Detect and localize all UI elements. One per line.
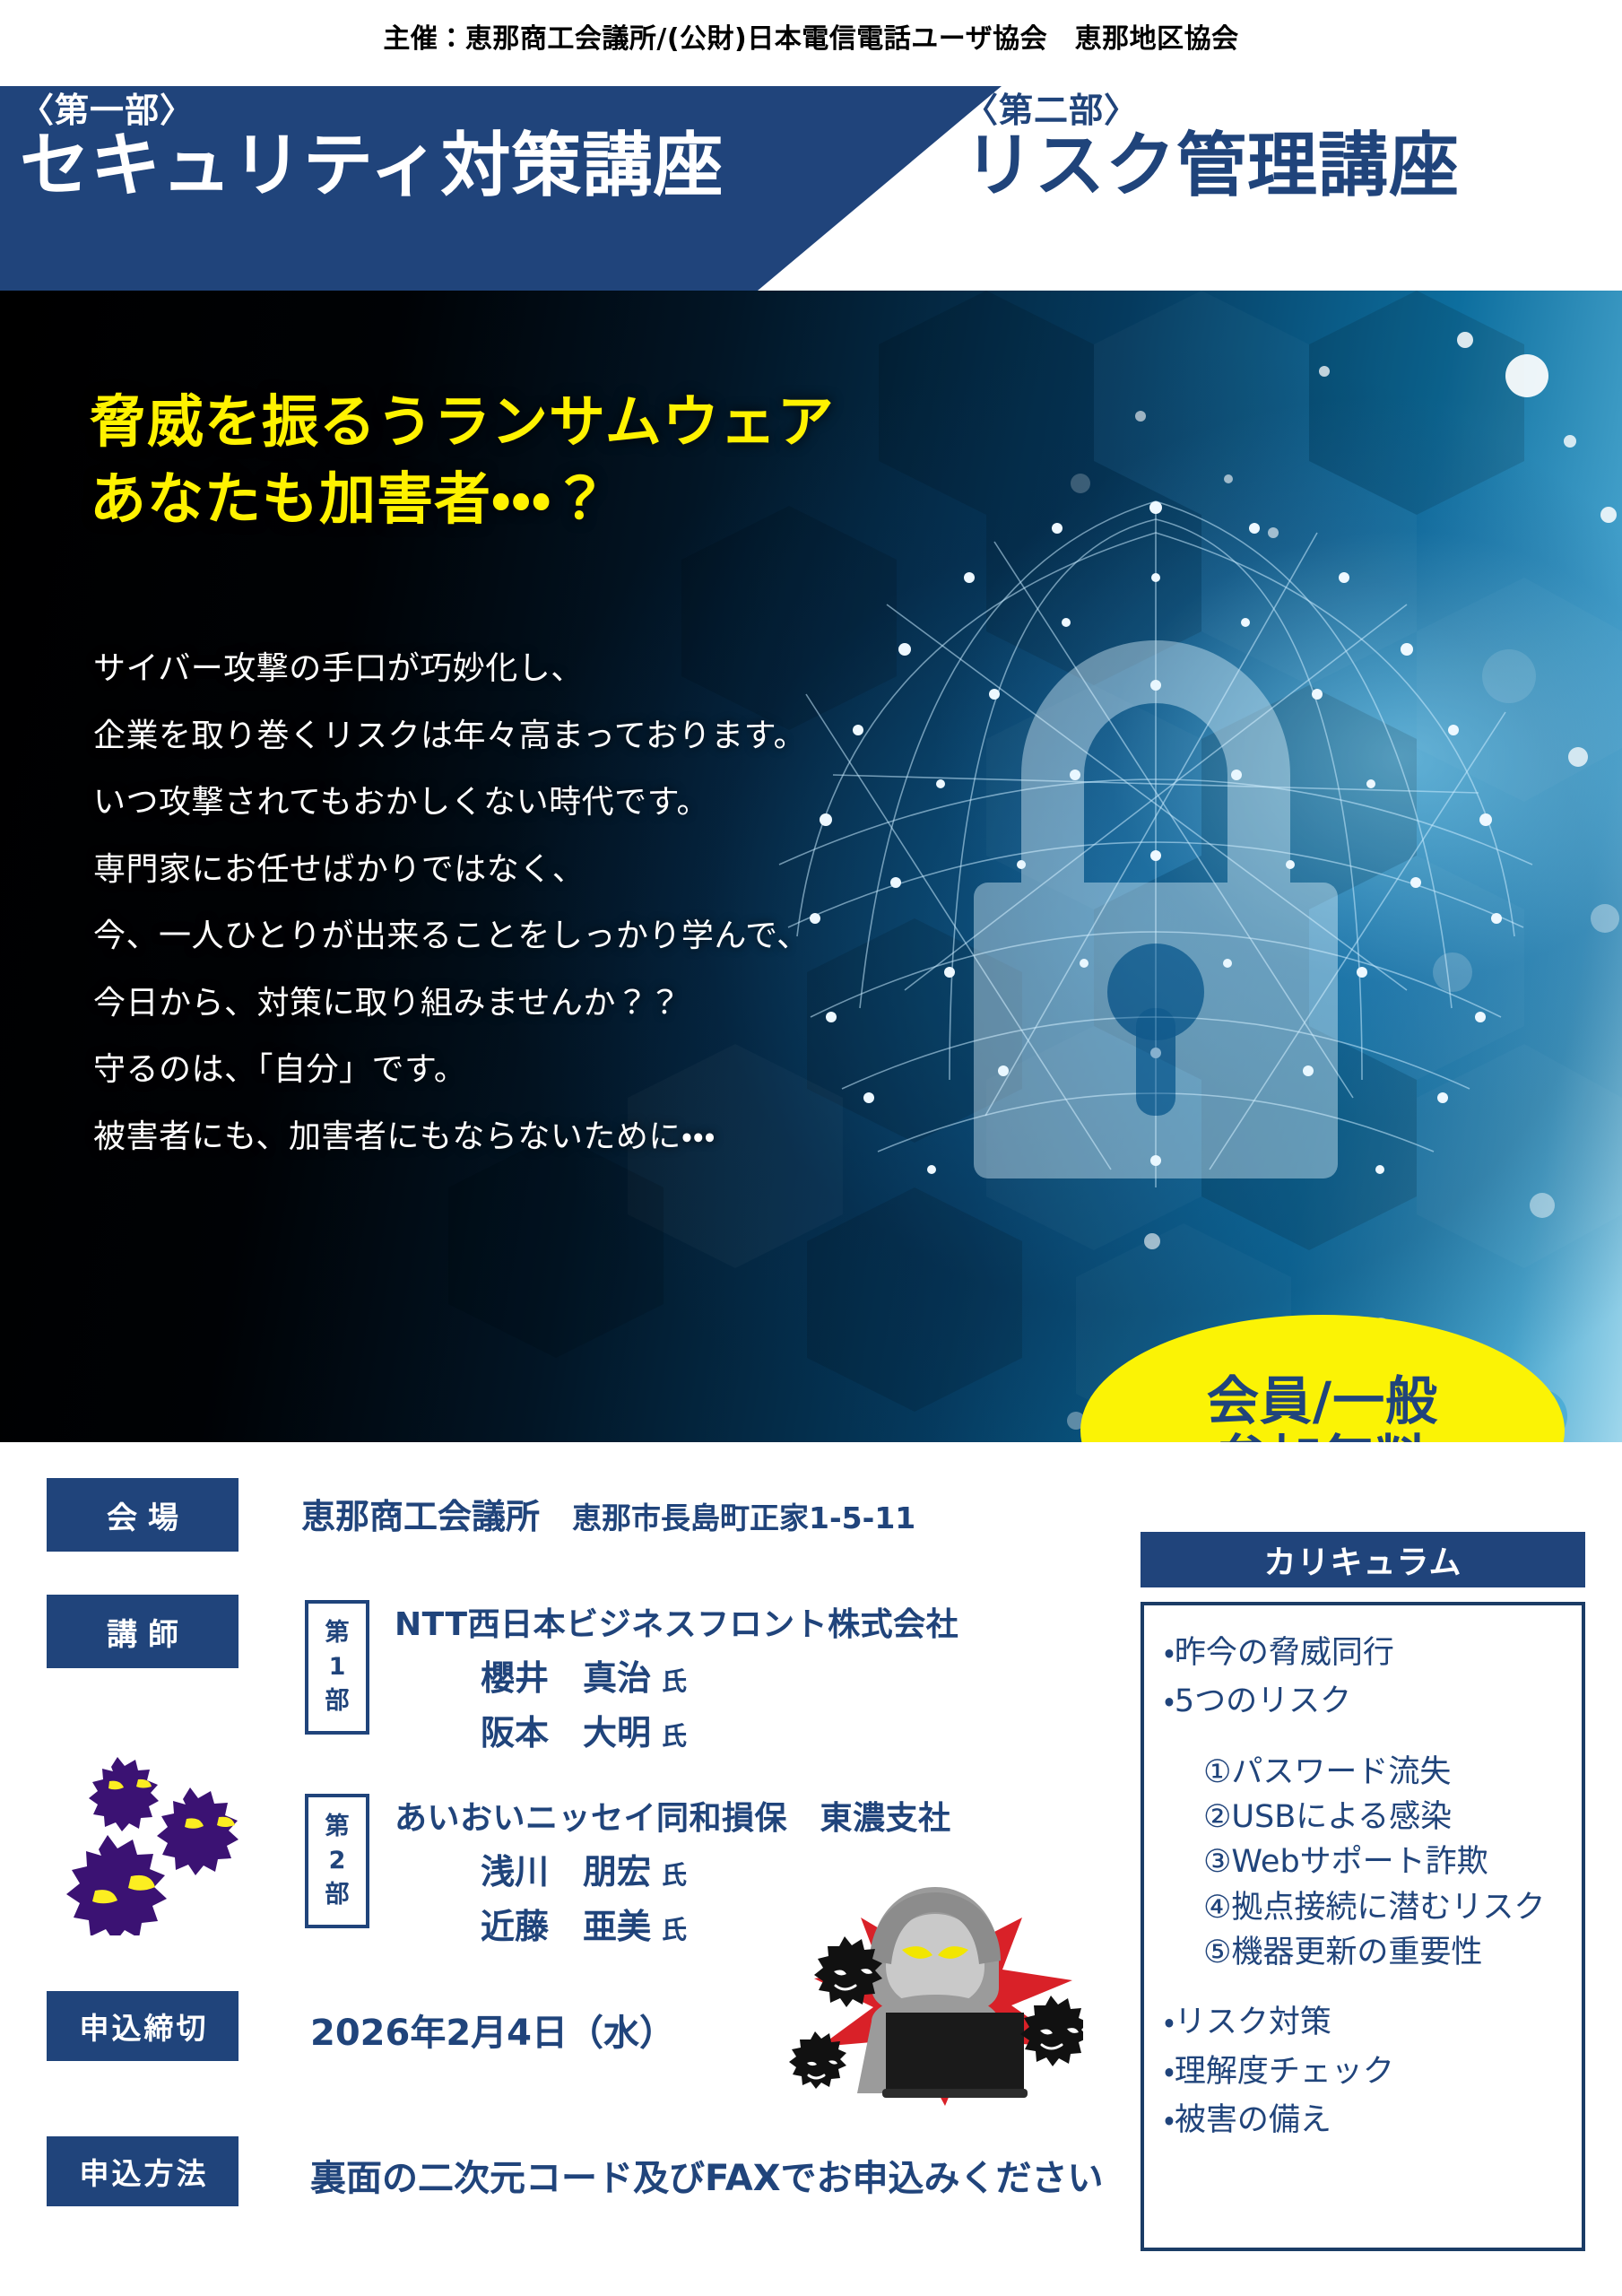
curriculum-subitem: ②USBによる感染 — [1164, 1795, 1566, 1839]
hero-body-line: 守るのは、「自分」です。 — [93, 1037, 810, 1104]
part1-person: 櫻井 真治氏 — [395, 1650, 958, 1700]
curriculum-subitem: ③Webサポート詐欺 — [1164, 1839, 1566, 1884]
hero-headline-line2: あなたも加害者・・・？ — [90, 461, 835, 538]
part1-person-name: 櫻井 真治 — [481, 1658, 651, 1698]
banner-part2: 〈第二部〉 リスク管理講座 — [964, 91, 1460, 201]
curriculum-box: ・昨今の脅威同行 ・5つのリスク ①パスワード流失 ②USBによる感染 ③Web… — [1141, 1602, 1585, 2251]
venue-label-chip: 会場 — [47, 1478, 239, 1552]
banner-part1: 〈第一部〉 セキュリティ対策講座 — [20, 91, 724, 201]
curriculum-item: ・昨今の脅威同行 — [1164, 1629, 1566, 1677]
method-label-chip: 申込方法 — [47, 2136, 239, 2206]
method-value: 裏面の二次元コード及びFAXでお申込みください — [310, 2149, 1104, 2201]
part2-badge-line: 2 — [329, 1844, 346, 1878]
part2-badge: 第 2 部 — [305, 1794, 369, 1928]
organizer-line: 主催：恵那商工会議所/(公財)日本電信電話ユーザ協会 恵那地区協会 — [0, 16, 1622, 56]
deadline-label-chip: 申込締切 — [47, 1991, 239, 2061]
curriculum-item: ・5つのリスク — [1164, 1677, 1566, 1726]
header-banner: 〈第一部〉 セキュリティ対策講座 〈第二部〉 リスク管理講座 — [0, 86, 1622, 291]
part2-person-suffix: 氏 — [662, 1860, 687, 1890]
part1-badge-line: 1 — [329, 1650, 346, 1684]
part1-organization: NTT西日本ビジネスフロント株式会社 — [395, 1598, 958, 1645]
part2-badge-line: 部 — [325, 1878, 350, 1912]
part2-person-name: 近藤 亜美 — [481, 1907, 651, 1946]
part1-badge: 第 1 部 — [305, 1600, 369, 1735]
hero-body-line: 今、一人ひとりが出来ることをしっかり学んで、 — [93, 903, 810, 970]
free-badge-line2: 参加無料 — [1217, 1431, 1428, 1442]
curriculum-title: カリキュラム — [1141, 1532, 1585, 1587]
part2-person-suffix: 氏 — [662, 1915, 687, 1944]
hero-body-line: 専門家にお任せばかりではなく、 — [93, 837, 810, 904]
part1-person: 阪本 大明氏 — [395, 1705, 958, 1754]
hero-body-line: 企業を取り巻くリスクは年々高まっております。 — [93, 703, 810, 770]
curriculum-item: ・理解度チェック — [1164, 2048, 1566, 2096]
hacker-illustration — [787, 1871, 1083, 2140]
part1-badge-line: 第 — [325, 1616, 350, 1650]
hero-headline-line1: 脅威を振るうランサムウェア — [90, 384, 835, 461]
hero-body-text: サイバー攻撃の手口が巧妙化し、 企業を取り巻くリスクは年々高まっております。 い… — [93, 636, 810, 1170]
part1-badge-line: 部 — [325, 1684, 350, 1718]
part2-title: リスク管理講座 — [964, 131, 1460, 201]
virus-characters-icon — [56, 1756, 253, 1935]
part1-person-suffix: 氏 — [662, 1721, 687, 1751]
part1-lecturer-block: NTT西日本ビジネスフロント株式会社 櫻井 真治氏 阪本 大明氏 — [395, 1598, 958, 1754]
poster-root: 主催：恵那商工会議所/(公財)日本電信電話ユーザ協会 恵那地区協会 〈第一部〉 … — [0, 0, 1622, 2296]
lecturer-label-chip: 講師 — [47, 1595, 239, 1668]
venue-name: 恵那商工会議所 — [301, 1497, 540, 1536]
hero-body-line: 被害者にも、加害者にもならないために・・・ — [93, 1104, 810, 1171]
part1-person-name: 阪本 大明 — [481, 1713, 651, 1752]
part2-organization: あいおいニッセイ同和損保 東濃支社 — [395, 1792, 951, 1839]
part2-person-name: 浅川 朋宏 — [481, 1852, 651, 1892]
hero-body-line: サイバー攻撃の手口が巧妙化し、 — [93, 636, 810, 703]
part1-title: セキュリティ対策講座 — [20, 131, 724, 201]
hero-body-line: 今日から、対策に取り組みませんか？？ — [93, 970, 810, 1038]
part2-badge-line: 第 — [325, 1810, 350, 1844]
curriculum-item: ・リスク対策 — [1164, 1998, 1566, 2047]
deadline-value: 2026年2月4日（水） — [310, 2004, 675, 2056]
venue-address: 恵那市長島町正家1-5-11 — [572, 1500, 915, 1535]
hero-section: 脅威を振るうランサムウェア あなたも加害者・・・？ サイバー攻撃の手口が巧妙化し… — [0, 291, 1622, 1442]
spacer — [1164, 1726, 1566, 1750]
curriculum-subitem: ⑤機器更新の重要性 — [1164, 1930, 1566, 1975]
free-badge-line1: 会員/一般 — [1207, 1372, 1438, 1431]
spacer — [1164, 1975, 1566, 1998]
venue-text: 恵那商工会議所恵那市長島町正家1-5-11 — [301, 1489, 915, 1538]
part1-person-suffix: 氏 — [662, 1666, 687, 1696]
hero-body-line: いつ攻撃されてもおかしくない時代です。 — [93, 770, 810, 837]
curriculum-subitem: ①パスワード流失 — [1164, 1750, 1566, 1795]
curriculum-subitem: ④拠点接続に潜むリスク — [1164, 1885, 1566, 1930]
curriculum-item: ・被害の備え — [1164, 2096, 1566, 2144]
hero-headline: 脅威を振るうランサムウェア あなたも加害者・・・？ — [90, 384, 835, 537]
